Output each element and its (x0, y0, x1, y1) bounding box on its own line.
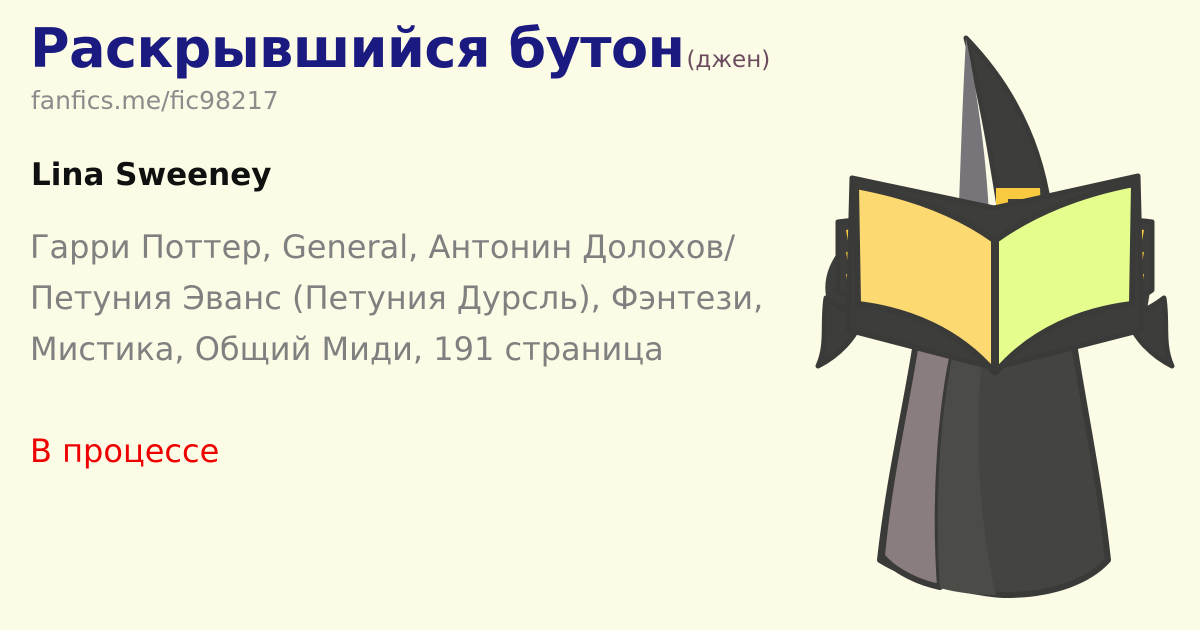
author-name: Lina Sweeney (31, 157, 271, 193)
book-spine (994, 240, 996, 372)
source-url: fanfics.me/fic98217 (31, 86, 279, 115)
text-column: Раскрывшийся бутон(джен) fanfics.me/fic9… (30, 0, 820, 630)
witch-reading-book-illustration (790, 0, 1200, 630)
witch-illustration-svg (790, 0, 1200, 630)
title-text: Раскрывшийся бутон (30, 17, 684, 80)
metadata-text: Гарри Поттер, General, Антонин Долохов/П… (30, 222, 810, 375)
status-badge: В процессе (30, 426, 219, 477)
social-card: Раскрывшийся бутон(джен) fanfics.me/fic9… (0, 0, 1200, 630)
genre-tag: (джен) (684, 47, 770, 73)
book-group (848, 176, 1142, 372)
page-title: Раскрывшийся бутон(джен) (30, 22, 770, 76)
